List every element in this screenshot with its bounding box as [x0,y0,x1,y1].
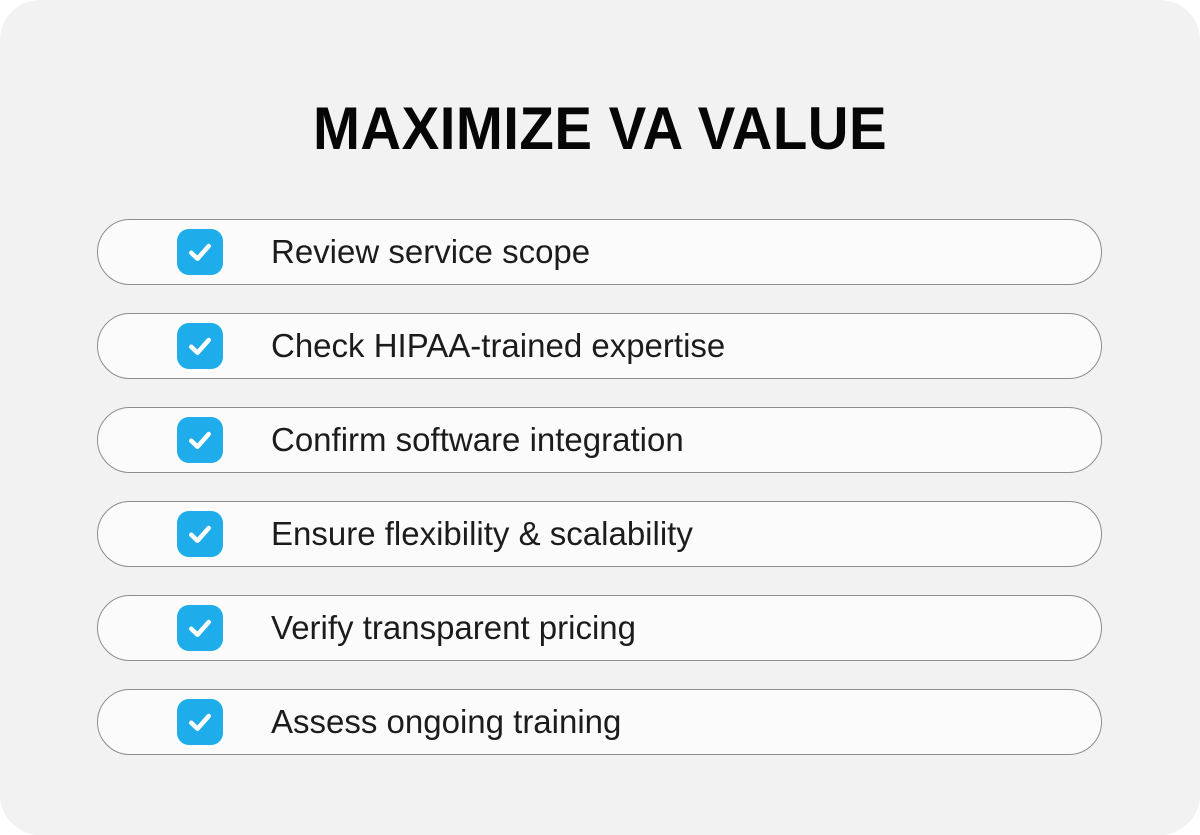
checklist-item-1[interactable]: Review service scope [97,219,1102,285]
checklist-item-4[interactable]: Ensure flexibility & scalability [97,501,1102,567]
check-icon [185,613,215,643]
page-title: MAXIMIZE VA VALUE [36,94,1164,164]
checkbox-6[interactable] [177,699,223,745]
check-icon [185,707,215,737]
check-icon [185,425,215,455]
checklist-item-label: Review service scope [271,233,590,271]
checklist: Review service scope Check HIPAA-trained… [97,219,1102,755]
checklist-item-6[interactable]: Assess ongoing training [97,689,1102,755]
checklist-item-label: Ensure flexibility & scalability [271,515,693,553]
checkbox-1[interactable] [177,229,223,275]
checkbox-3[interactable] [177,417,223,463]
checklist-item-label: Assess ongoing training [271,703,621,741]
checklist-item-3[interactable]: Confirm software integration [97,407,1102,473]
checklist-item-2[interactable]: Check HIPAA-trained expertise [97,313,1102,379]
maximize-va-value-card: MAXIMIZE VA VALUE Review service scope [0,0,1200,835]
checkbox-5[interactable] [177,605,223,651]
checkbox-2[interactable] [177,323,223,369]
check-icon [185,237,215,267]
checkbox-4[interactable] [177,511,223,557]
checklist-item-5[interactable]: Verify transparent pricing [97,595,1102,661]
check-icon [185,519,215,549]
checklist-item-label: Check HIPAA-trained expertise [271,327,725,365]
check-icon [185,331,215,361]
checklist-item-label: Confirm software integration [271,421,684,459]
checklist-item-label: Verify transparent pricing [271,609,636,647]
